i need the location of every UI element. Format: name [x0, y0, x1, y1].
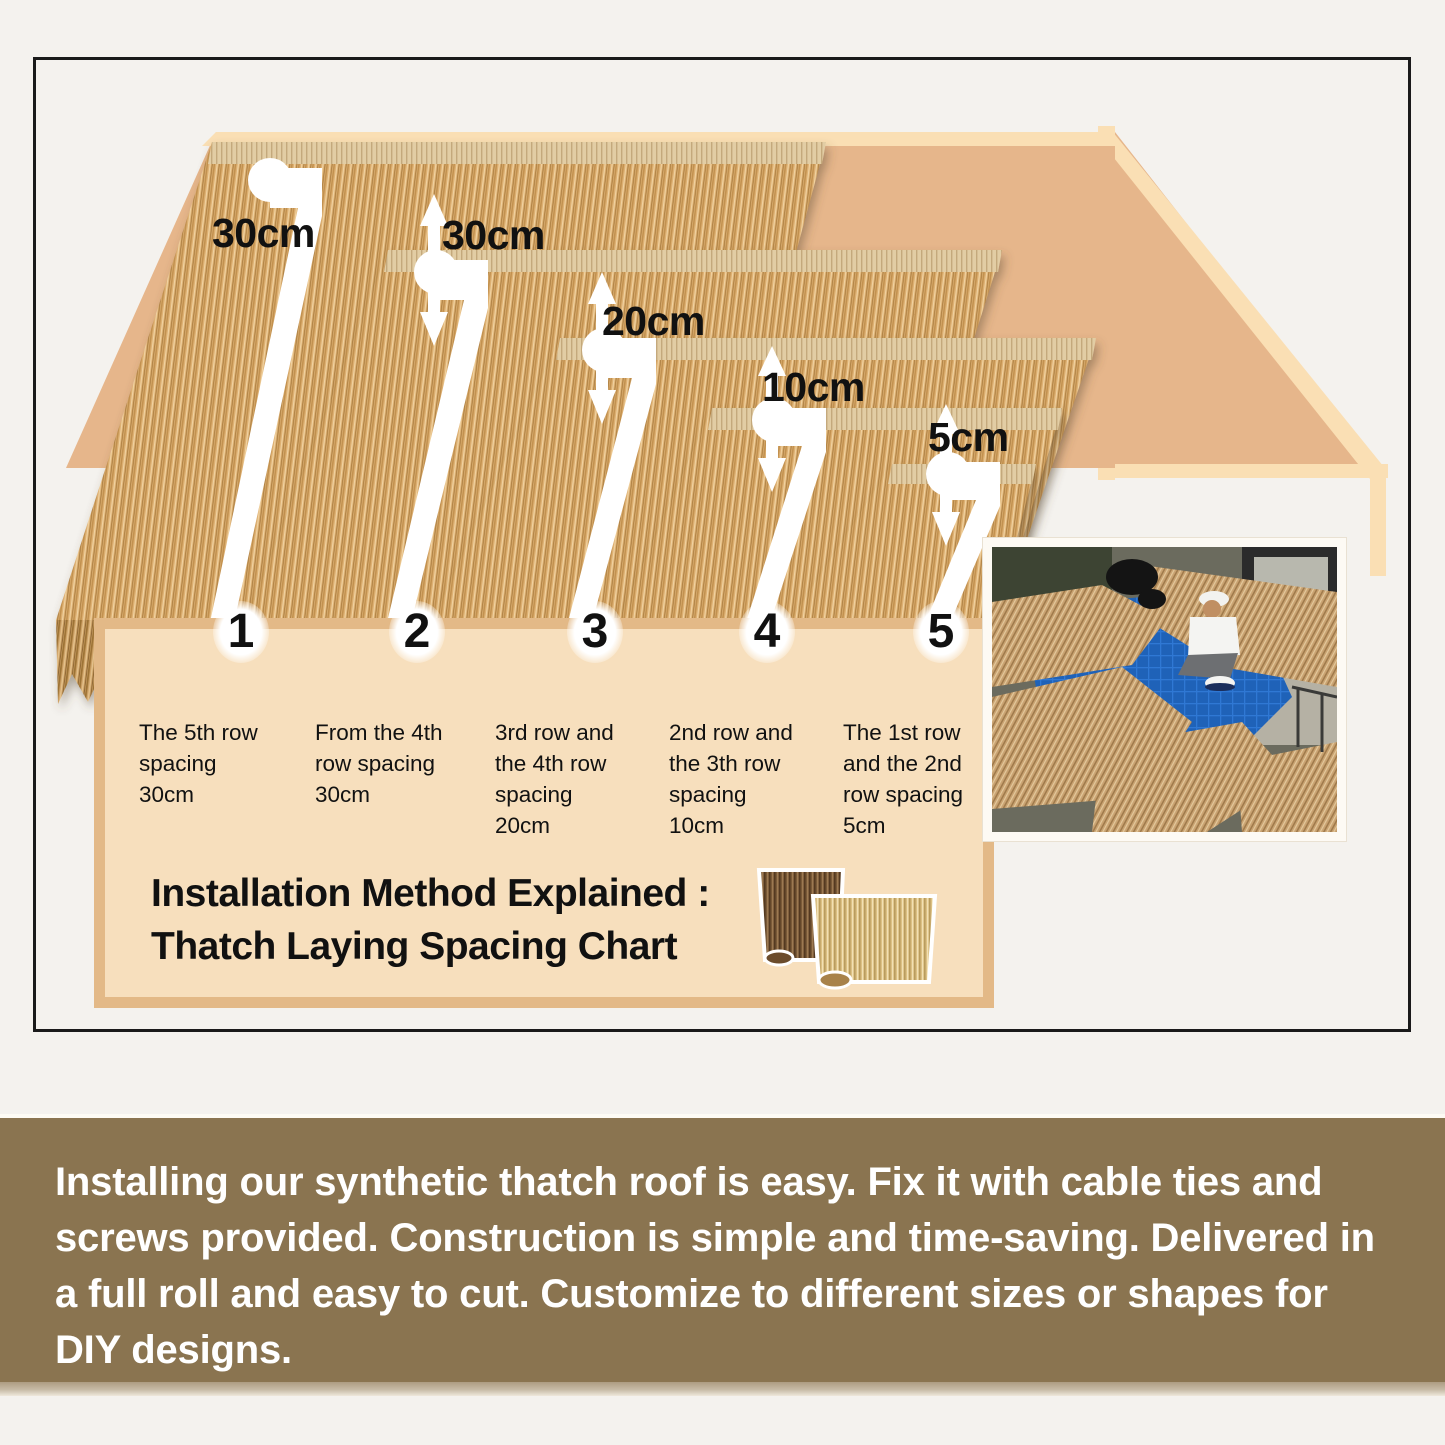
caption-1-line-2: spacing: [139, 748, 299, 779]
dimension-label-20cm: 20cm: [602, 298, 705, 345]
caption-3-line-2: the 4th row: [495, 748, 663, 779]
badge-1: 1: [213, 601, 269, 663]
caption-panel: 1 2 3 4 5 The 5th row spacing 30cm From …: [94, 618, 994, 1008]
caption-3-line-1: 3rd row and: [495, 717, 663, 748]
caption-2-line-2: row spacing: [315, 748, 483, 779]
caption-2-line-3: 30cm: [315, 779, 483, 810]
dimension-label-30cm-b: 30cm: [442, 212, 545, 259]
caption-2-line-1: From the 4th: [315, 717, 483, 748]
panel-title-line-2: Thatch Laying Spacing Chart: [151, 920, 710, 973]
caption-1: The 5th row spacing 30cm: [139, 717, 299, 810]
dimension-label-5cm: 5cm: [928, 414, 1009, 461]
badge-4: 4: [739, 601, 795, 663]
caption-1-line-3: 30cm: [139, 779, 299, 810]
caption-3: 3rd row and the 4th row spacing 20cm: [495, 717, 663, 841]
dimension-label-10cm: 10cm: [762, 364, 865, 411]
banner-bottom-strip: [0, 1382, 1445, 1396]
caption-3-line-4: 20cm: [495, 810, 663, 841]
thatch-installation-photo: [983, 538, 1346, 841]
bottom-banner: Installing our synthetic thatch roof is …: [0, 1118, 1445, 1382]
infographic-card: 30cm 30cm 20cm 10cm 5cm 1 2 3 4 5 The 5t…: [33, 57, 1411, 1032]
caption-4-line-2: the 3th row: [669, 748, 837, 779]
panel-title-line-1: Installation Method Explained :: [151, 867, 710, 920]
caption-4-line-1: 2nd row and: [669, 717, 837, 748]
badge-5: 5: [913, 601, 969, 663]
caption-4-line-4: 10cm: [669, 810, 837, 841]
caption-4-line-3: spacing: [669, 779, 837, 810]
caption-3-line-3: spacing: [495, 779, 663, 810]
badge-3: 3: [567, 601, 623, 663]
dimension-label-30cm-a: 30cm: [212, 210, 315, 257]
panel-title: Installation Method Explained : Thatch L…: [151, 867, 710, 973]
badge-2: 2: [389, 601, 445, 663]
thatch-roll-images: [739, 856, 959, 991]
banner-text: Installing our synthetic thatch roof is …: [55, 1154, 1385, 1378]
caption-1-line-1: The 5th row: [139, 717, 299, 748]
caption-4: 2nd row and the 3th row spacing 10cm: [669, 717, 837, 841]
caption-2: From the 4th row spacing 30cm: [315, 717, 483, 810]
thatch-roll-light: [813, 896, 935, 988]
